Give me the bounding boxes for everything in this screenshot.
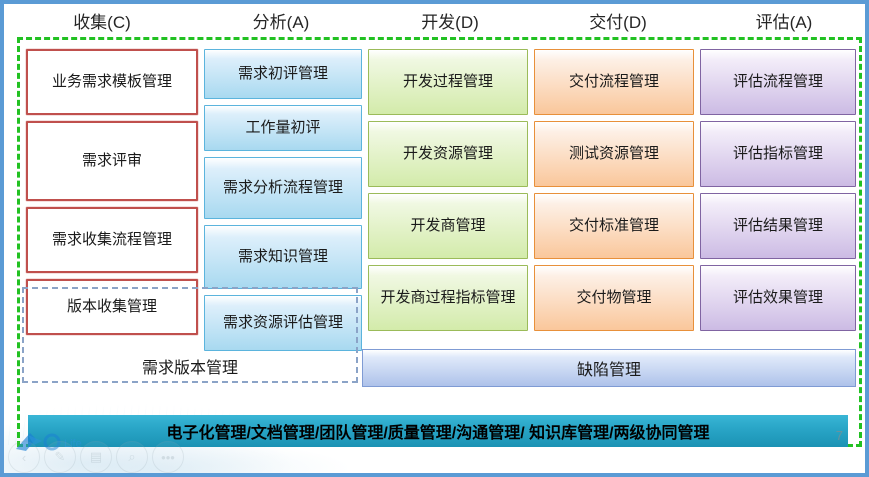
column-header-collect: 收集(C) [8,10,196,38]
capability-box-evaluate-2[interactable]: 评估指标管理 [700,121,856,187]
capability-box-evaluate-1[interactable]: 评估流程管理 [700,49,856,115]
column-deliver: 交付流程管理测试资源管理交付标准管理交付物管理 [534,49,694,394]
capability-box-analyze-2[interactable]: 工作量初评 [204,105,362,151]
footer-capability-bar: 电子化管理/文档管理/团队管理/质量管理/沟通管理/ 知识库管理/两级协同管理 [28,415,848,447]
requirement-version-group-label: 需求版本管理 [22,352,358,380]
capability-box-deliver-2[interactable]: 测试资源管理 [534,121,694,187]
column-evaluate: 评估流程管理评估指标管理评估结果管理评估效果管理 [700,49,856,394]
capability-box-collect-2[interactable]: 需求评审 [26,121,198,201]
capability-box-analyze-1[interactable]: 需求初评管理 [204,49,362,99]
column-headers: 收集(C) 分析(A) 开发(D) 交付(D) 评估(A) [8,10,869,38]
capability-box-deliver-4[interactable]: 交付物管理 [534,265,694,331]
capability-box-evaluate-4[interactable]: 评估效果管理 [700,265,856,331]
column-header-analyze: 分析(A) [196,10,366,38]
slide-canvas: 收集(C) 分析(A) 开发(D) 交付(D) 评估(A) 业务需求模板管理需求… [0,0,869,477]
defect-management-bar[interactable]: 缺陷管理 [362,349,856,387]
capability-box-develop-4[interactable]: 开发商过程指标管理 [368,265,528,331]
capability-box-collect-1[interactable]: 业务需求模板管理 [26,49,198,115]
capability-box-collect-4[interactable]: 版本收集管理 [26,279,198,335]
capability-box-analyze-4[interactable]: 需求知识管理 [204,225,362,289]
capability-box-develop-1[interactable]: 开发过程管理 [368,49,528,115]
column-header-deliver: 交付(D) [534,10,702,38]
column-develop: 开发过程管理开发资源管理开发商管理开发商过程指标管理 [368,49,528,394]
capability-box-develop-2[interactable]: 开发资源管理 [368,121,528,187]
capability-box-analyze-5[interactable]: 需求资源评估管理 [204,295,362,351]
column-header-evaluate: 评估(A) [702,10,866,38]
column-analyze: 需求初评管理工作量初评需求分析流程管理需求知识管理需求资源评估管理 [204,49,362,394]
column-header-develop: 开发(D) [366,10,534,38]
capability-box-evaluate-3[interactable]: 评估结果管理 [700,193,856,259]
capability-box-deliver-1[interactable]: 交付流程管理 [534,49,694,115]
capability-box-analyze-3[interactable]: 需求分析流程管理 [204,157,362,219]
column-collect: 业务需求模板管理需求评审需求收集流程管理版本收集管理 [26,49,198,394]
page-number: 7 [836,428,843,443]
capability-box-deliver-3[interactable]: 交付标准管理 [534,193,694,259]
capability-box-collect-3[interactable]: 需求收集流程管理 [26,207,198,273]
capability-box-develop-3[interactable]: 开发商管理 [368,193,528,259]
capability-columns: 业务需求模板管理需求评审需求收集流程管理版本收集管理 需求初评管理工作量初评需求… [26,49,856,394]
